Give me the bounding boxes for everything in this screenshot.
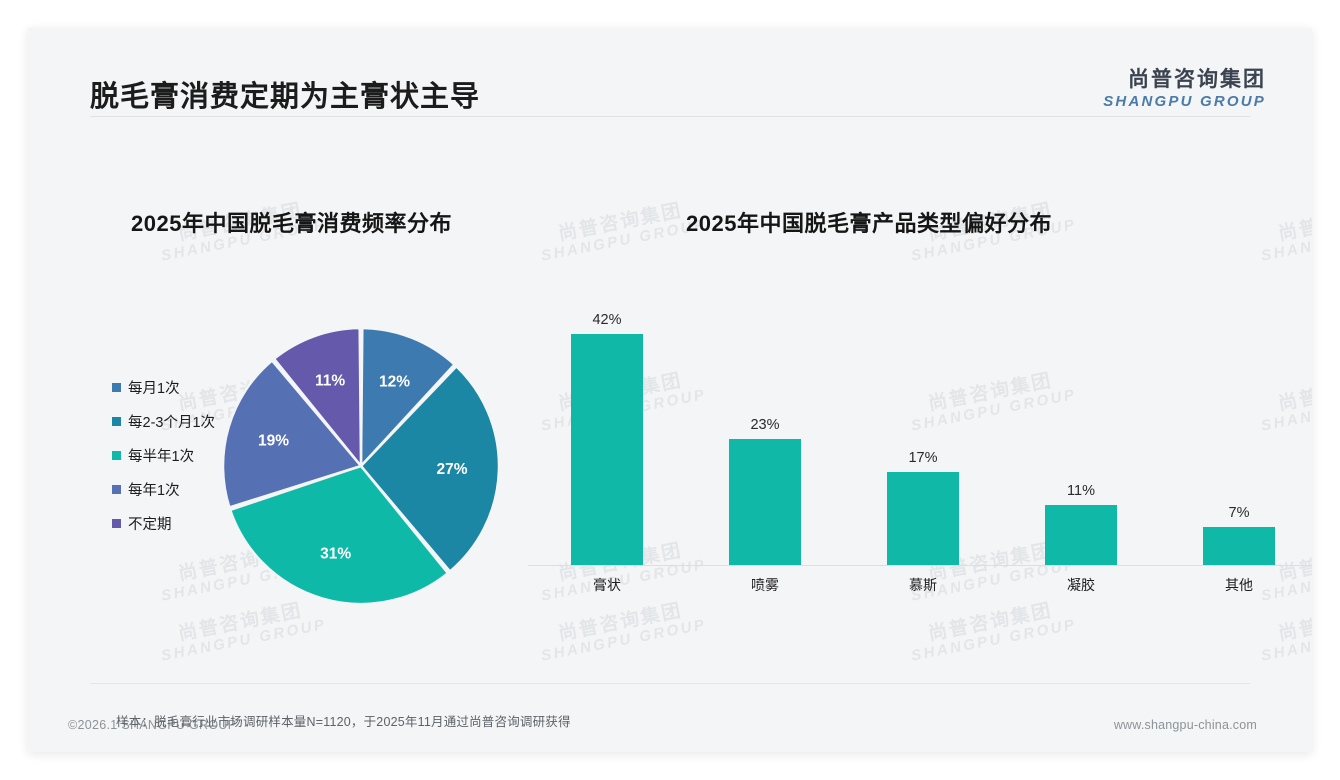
bar-rect[interactable] [1203, 527, 1275, 566]
slide-canvas: 尚普咨询集团SHANGPU GROUP尚普咨询集团SHANGPU GROUP尚普… [28, 28, 1312, 752]
pie-slice-value-label: 19% [258, 433, 289, 450]
watermark-text: 尚普咨询集团SHANGPU GROUP [1256, 197, 1312, 264]
bar-value-label: 42% [571, 312, 643, 328]
bar-chart: 42%23%17%11%7% [528, 284, 1312, 566]
sample-footnote: 样本：脱毛膏行业市场调研样本量N=1120，于2025年11月通过尚普咨询调研获… [116, 711, 571, 730]
bar-value-label: 23% [729, 417, 801, 433]
bar-column[interactable]: 7% [1203, 284, 1275, 566]
pie-legend-label: 每月1次 [128, 377, 180, 398]
bar-value-label: 11% [1045, 483, 1117, 499]
header-divider [90, 116, 1250, 117]
bar-chart-baseline [528, 565, 1312, 566]
pie-slice-value-label: 27% [436, 461, 467, 478]
bar-rect[interactable] [887, 472, 959, 566]
pie-chart-title: 2025年中国脱毛膏消费频率分布 [131, 206, 452, 238]
pie-legend-label: 不定期 [128, 513, 172, 534]
pie-slice-value-label: 12% [379, 373, 410, 390]
pie-slice-value-label: 11% [315, 372, 345, 389]
logo-english-text: SHANGPU GROUP [1103, 93, 1266, 111]
bar-category-label: 凝胶 [1031, 575, 1131, 595]
pie-slice-value-label: 31% [320, 546, 351, 563]
bar-value-label: 17% [887, 450, 959, 466]
page-title: 脱毛膏消费定期为主膏状主导 [90, 73, 480, 115]
bar-column[interactable]: 23% [729, 284, 801, 566]
legend-swatch-icon [112, 417, 121, 426]
bar-category-label: 膏状 [557, 575, 657, 595]
bar-rect[interactable] [729, 439, 801, 566]
pie-legend-item[interactable]: 每年1次 [112, 472, 215, 506]
bar-column[interactable]: 42% [571, 284, 643, 566]
pie-legend-item[interactable]: 每半年1次 [112, 438, 215, 472]
bar-chart-title: 2025年中国脱毛膏产品类型偏好分布 [686, 206, 1052, 238]
legend-swatch-icon [112, 485, 121, 494]
watermark-text: 尚普咨询集团SHANGPU GROUP [156, 597, 328, 664]
legend-swatch-icon [112, 383, 121, 392]
pie-legend-item[interactable]: 每月1次 [112, 370, 215, 404]
bar-rect[interactable] [571, 334, 643, 566]
pie-legend-item[interactable]: 每2-3个月1次 [112, 404, 215, 438]
watermark-text: 尚普咨询集团SHANGPU GROUP [536, 597, 708, 664]
footnote-divider [90, 683, 1250, 684]
legend-swatch-icon [112, 519, 121, 528]
pie-legend-item[interactable]: 不定期 [112, 506, 215, 540]
pie-chart-svg: 12%27%31%19%11% [221, 326, 501, 606]
watermark-text: 尚普咨询集团SHANGPU GROUP [906, 597, 1078, 664]
pie-legend-label: 每2-3个月1次 [128, 411, 215, 432]
watermark-text: 尚普咨询集团SHANGPU GROUP [1256, 597, 1312, 664]
bar-column[interactable]: 11% [1045, 284, 1117, 566]
pie-chart: 12%27%31%19%11% [221, 326, 501, 606]
bar-category-label: 喷雾 [715, 575, 815, 595]
slide-header: 脱毛膏消费定期为主膏状主导 尚普咨询集团 SHANGPU GROUP [28, 28, 1312, 120]
logo-chinese-text: 尚普咨询集团 [1103, 68, 1266, 92]
bar-column[interactable]: 17% [887, 284, 959, 566]
legend-swatch-icon [112, 451, 121, 460]
bar-category-label: 慕斯 [873, 575, 973, 595]
pie-legend-label: 每年1次 [128, 479, 180, 500]
pie-legend: 每月1次每2-3个月1次每半年1次每年1次不定期 [112, 370, 215, 540]
footer-website: www.shangpu-china.com [1114, 718, 1257, 732]
bar-category-label: 其他 [1189, 575, 1289, 595]
brand-logo: 尚普咨询集团 SHANGPU GROUP [1103, 68, 1266, 111]
bar-rect[interactable] [1045, 505, 1117, 566]
pie-legend-label: 每半年1次 [128, 445, 194, 466]
bar-value-label: 7% [1203, 505, 1275, 521]
watermark-text: 尚普咨询集团SHANGPU GROUP [536, 197, 708, 264]
